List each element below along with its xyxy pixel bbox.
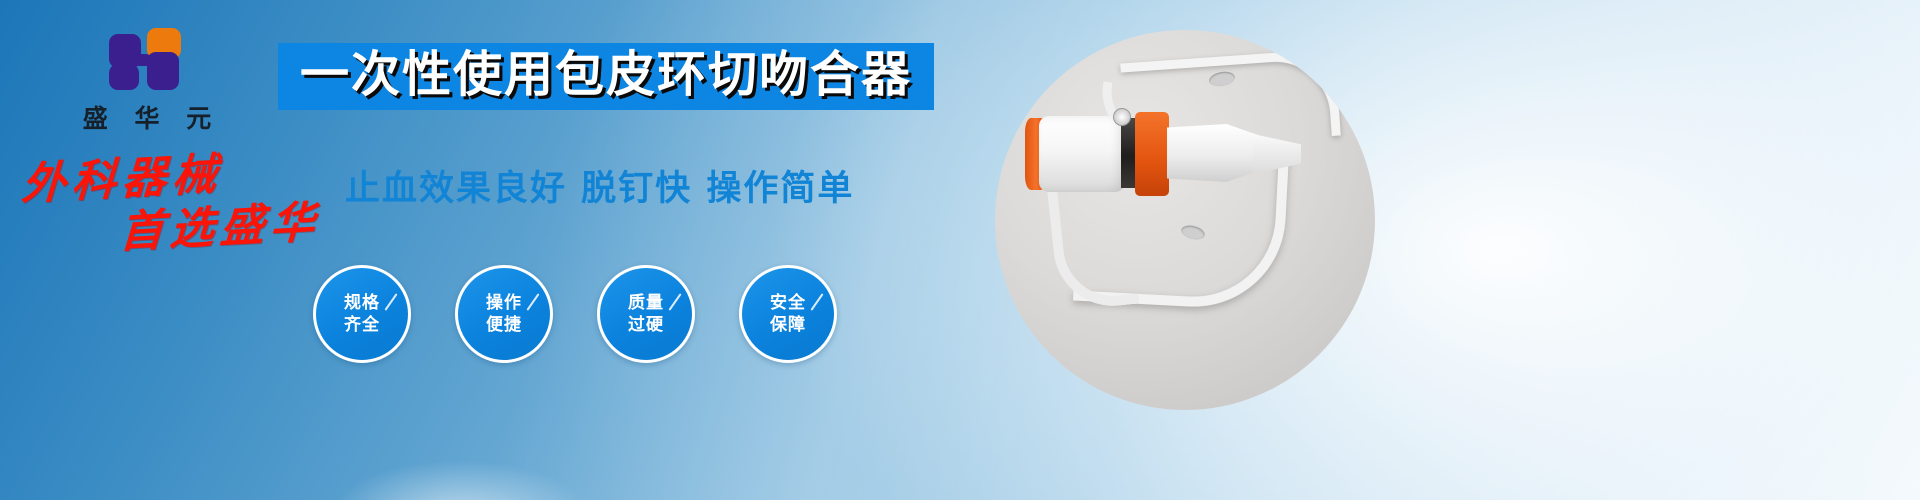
- feature-badge-2[interactable]: 操作 便捷: [455, 265, 553, 363]
- brand-logo[interactable]: 盛 华 元: [62, 28, 232, 135]
- badge-4-line-1: 安全: [770, 292, 806, 314]
- feature-badge-list: 规格 齐全 操作 便捷 质量 过硬 安全 保障: [313, 265, 837, 363]
- headline-banner: 一次性使用包皮环切吻合器: [278, 43, 934, 110]
- badge-1-line-2: 齐全: [344, 314, 380, 336]
- product-pivot: [1113, 108, 1131, 126]
- logo-mark-icon: [109, 28, 185, 90]
- product-arm-lower-inner: [1047, 176, 1140, 312]
- calligraphy-line-1: 外科器械: [20, 153, 223, 207]
- badge-1-line-1: 规格: [344, 292, 380, 314]
- product-barrel: [1039, 116, 1125, 192]
- brand-name: 盛 华 元: [62, 99, 232, 135]
- logo-square-lower-left: [109, 64, 139, 90]
- badge-3-line-1: 质量: [628, 292, 664, 314]
- badge-3-line-2: 过硬: [628, 314, 664, 336]
- decorative-arc: [330, 460, 590, 500]
- feature-badge-1[interactable]: 规格 齐全: [313, 265, 411, 363]
- calligraphy-line-2: 首选盛华: [118, 201, 321, 255]
- product-tip: [1253, 134, 1301, 174]
- badge-2-line-1: 操作: [486, 292, 522, 314]
- badge-4-line-2: 保障: [770, 314, 806, 336]
- badge-2-line-2: 便捷: [486, 314, 522, 336]
- product-orange-collar: [1135, 112, 1169, 196]
- logo-connector: [134, 54, 152, 66]
- feature-badge-3[interactable]: 质量 过硬: [597, 265, 695, 363]
- feature-badge-4[interactable]: 安全 保障: [739, 265, 837, 363]
- promo-banner: 盛 华 元 一次性使用包皮环切吻合器 外科器械 首选盛华 止血效果良好 脱钉快 …: [0, 0, 1920, 500]
- headline-text: 一次性使用包皮环切吻合器: [300, 50, 912, 99]
- subtitle-text: 止血效果良好 脱钉快 操作简单: [345, 168, 854, 210]
- product-photo: [995, 30, 1375, 410]
- product-head: [1167, 124, 1263, 182]
